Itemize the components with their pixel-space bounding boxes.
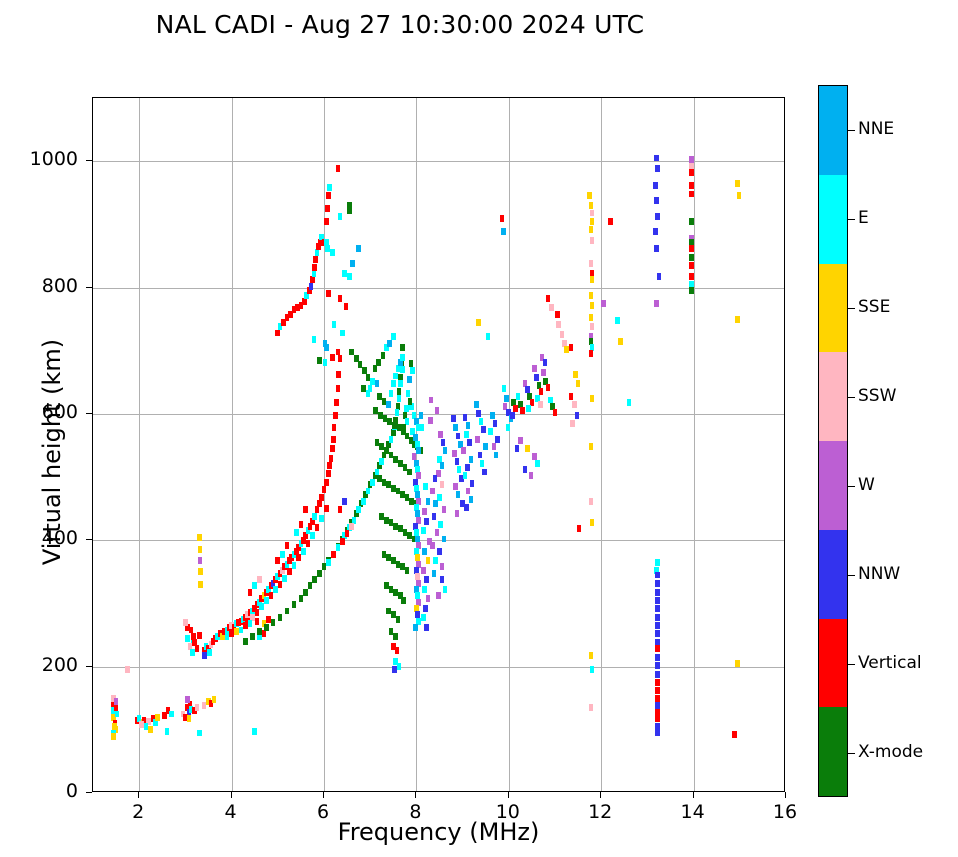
data-point <box>330 354 335 361</box>
data-point <box>516 393 521 400</box>
data-point <box>452 450 457 457</box>
data-point <box>162 712 167 719</box>
data-point <box>336 349 341 356</box>
data-point <box>248 589 253 596</box>
y-axis-tick <box>86 539 92 540</box>
data-point <box>435 407 440 414</box>
data-point <box>389 436 394 443</box>
ionogram-figure: NAL CADI - Aug 27 10:30:00 2024 UTC 2468… <box>0 0 958 857</box>
data-point <box>393 633 398 640</box>
data-point <box>396 616 401 623</box>
data-point <box>333 412 338 419</box>
data-point <box>655 614 660 621</box>
data-point <box>426 595 431 602</box>
data-point <box>269 592 274 599</box>
data-point <box>197 534 202 541</box>
data-point <box>501 228 506 235</box>
data-point <box>322 486 327 493</box>
data-point <box>443 586 448 593</box>
data-point <box>324 344 329 351</box>
data-point <box>198 568 203 575</box>
data-point <box>655 679 660 686</box>
data-point <box>455 458 460 465</box>
data-point <box>329 455 334 462</box>
data-point <box>737 192 742 199</box>
data-point <box>408 398 413 405</box>
data-point <box>347 207 352 214</box>
data-point <box>347 273 352 280</box>
data-point <box>315 524 320 531</box>
data-point <box>463 472 468 479</box>
data-point <box>464 431 469 438</box>
x-axis-tick <box>693 792 694 798</box>
data-point <box>689 254 694 261</box>
data-point <box>420 424 425 431</box>
data-point <box>259 603 264 610</box>
colorbar-band-nne <box>819 86 847 175</box>
data-point <box>373 365 378 372</box>
data-point <box>492 443 497 450</box>
data-point <box>421 527 426 534</box>
data-point <box>315 506 320 513</box>
data-point <box>653 182 658 189</box>
data-point <box>345 530 350 537</box>
data-point <box>590 323 595 330</box>
y-axis-tick <box>86 666 92 667</box>
data-point <box>407 376 412 383</box>
data-point <box>275 557 280 564</box>
data-point <box>306 540 311 547</box>
data-point <box>115 711 120 718</box>
data-point <box>419 412 424 419</box>
data-point <box>525 445 530 452</box>
data-point <box>587 192 592 199</box>
data-point <box>478 452 483 459</box>
data-point <box>319 515 324 522</box>
data-point <box>338 355 343 362</box>
data-point <box>396 365 401 372</box>
data-point <box>549 304 554 311</box>
colorbar-tick <box>848 753 855 754</box>
data-point <box>422 586 427 593</box>
data-point <box>313 256 318 263</box>
data-point <box>303 589 308 596</box>
data-point <box>257 628 262 635</box>
data-point <box>470 480 475 487</box>
data-point <box>655 580 660 587</box>
data-point <box>655 589 660 596</box>
data-point <box>430 488 435 495</box>
y-axis-tick <box>86 287 92 288</box>
data-point <box>653 228 658 235</box>
data-point <box>397 395 402 402</box>
data-point <box>589 292 594 299</box>
data-point <box>197 632 202 639</box>
data-point <box>331 551 336 558</box>
data-point <box>569 344 574 351</box>
data-points-layer <box>93 98 784 791</box>
data-point <box>538 401 543 408</box>
data-point <box>627 399 632 406</box>
data-point <box>655 730 660 737</box>
data-point <box>303 506 308 513</box>
data-point <box>424 624 429 631</box>
data-point <box>250 633 255 640</box>
colorbar-label-e: E <box>858 208 869 228</box>
data-point <box>144 723 149 730</box>
data-point <box>139 721 144 728</box>
data-point <box>483 443 488 450</box>
data-point <box>405 567 410 574</box>
data-point <box>366 374 371 381</box>
data-point <box>735 180 740 187</box>
data-point <box>381 352 386 359</box>
y-axis-tick <box>86 160 92 161</box>
data-point <box>342 498 347 505</box>
data-point <box>589 652 594 659</box>
data-point <box>438 431 443 438</box>
data-point <box>379 458 384 465</box>
data-point <box>657 273 662 280</box>
data-point <box>278 581 283 588</box>
data-point <box>589 443 594 450</box>
data-point <box>486 333 491 340</box>
data-point <box>543 359 548 366</box>
data-point <box>504 395 509 402</box>
data-point <box>255 618 260 625</box>
data-point <box>393 373 398 380</box>
data-point <box>481 426 486 433</box>
data-point <box>601 300 606 307</box>
data-point <box>252 582 257 589</box>
data-point <box>315 249 320 256</box>
data-point <box>195 704 200 711</box>
data-point <box>112 723 117 730</box>
data-point <box>556 321 561 328</box>
data-point <box>395 647 400 654</box>
data-point <box>532 365 537 372</box>
data-point <box>391 333 396 340</box>
data-point <box>546 295 551 302</box>
data-point <box>689 169 694 176</box>
data-point <box>589 314 594 321</box>
data-point <box>655 622 660 629</box>
data-point <box>573 371 578 378</box>
data-point <box>590 218 595 225</box>
data-point <box>428 417 433 424</box>
data-point <box>424 576 429 583</box>
data-point <box>292 601 297 608</box>
data-point <box>654 300 659 307</box>
data-point <box>332 321 337 328</box>
data-point <box>426 498 431 505</box>
data-point <box>440 481 445 488</box>
data-point <box>689 287 694 294</box>
colorbar-label-nnw: NNW <box>858 564 900 584</box>
data-point <box>590 302 595 309</box>
x-axis-tick <box>323 792 324 798</box>
data-point <box>421 567 426 574</box>
data-point <box>589 498 594 505</box>
data-point <box>469 496 474 503</box>
data-point <box>252 728 257 735</box>
data-point <box>475 436 480 443</box>
data-point <box>433 557 438 564</box>
colorbar-tick <box>848 575 855 576</box>
data-point <box>529 472 534 479</box>
data-point <box>436 592 441 599</box>
colorbar-band-sse <box>819 264 847 353</box>
data-point <box>326 290 331 297</box>
data-point <box>317 357 322 364</box>
x-axis-tick <box>785 792 786 798</box>
data-point <box>324 239 329 246</box>
data-point <box>654 245 659 252</box>
data-point <box>426 557 431 564</box>
data-point <box>534 374 539 381</box>
data-point <box>401 424 406 431</box>
data-point <box>197 730 202 737</box>
data-point <box>282 575 287 582</box>
data-point <box>330 445 335 452</box>
data-point <box>334 399 339 406</box>
data-point <box>506 424 511 431</box>
data-point <box>198 557 203 564</box>
data-point <box>424 518 429 525</box>
y-axis-tick-label: 1000 <box>8 148 78 170</box>
data-point <box>111 733 116 740</box>
colorbar-label-vertical: Vertical <box>858 653 922 673</box>
data-point <box>432 513 437 520</box>
data-point <box>465 464 470 471</box>
data-point <box>271 619 276 626</box>
data-point <box>169 711 174 718</box>
data-point <box>576 380 581 387</box>
data-point <box>433 475 438 482</box>
data-point <box>308 582 313 589</box>
data-point <box>575 412 580 419</box>
data-point <box>438 521 443 528</box>
x-axis-tick <box>508 792 509 798</box>
data-point <box>278 614 283 621</box>
data-point <box>309 283 314 290</box>
data-point <box>655 605 660 612</box>
data-point <box>589 704 594 711</box>
y-axis-tick-label: 0 <box>8 780 78 802</box>
colorbar <box>818 85 848 797</box>
data-point <box>338 295 343 302</box>
data-point <box>433 500 438 507</box>
data-point <box>502 385 507 392</box>
data-point <box>689 262 694 269</box>
data-point <box>553 409 558 416</box>
data-point <box>590 237 595 244</box>
data-point <box>490 412 495 419</box>
colorbar-tick <box>848 219 855 220</box>
data-point <box>319 494 324 501</box>
data-point <box>456 433 461 440</box>
colorbar-tick <box>848 130 855 131</box>
colorbar-band-x-mode <box>819 707 847 796</box>
data-point <box>413 624 418 631</box>
data-point <box>299 595 304 602</box>
x-axis-tick <box>138 792 139 798</box>
data-point <box>400 354 405 361</box>
data-point <box>392 666 397 673</box>
data-point <box>590 276 595 283</box>
data-point <box>248 620 253 627</box>
data-point <box>410 367 415 374</box>
data-point <box>570 420 575 427</box>
data-point <box>429 397 434 404</box>
data-point <box>440 563 445 570</box>
data-point <box>285 542 290 549</box>
colorbar-label-w: W <box>858 475 875 495</box>
data-point <box>296 554 301 561</box>
data-point <box>340 538 345 545</box>
data-point <box>577 525 582 532</box>
data-point <box>368 385 373 392</box>
data-point <box>375 380 380 387</box>
data-point <box>255 609 260 616</box>
data-point <box>312 264 317 271</box>
data-point <box>275 330 280 337</box>
data-point <box>332 424 337 431</box>
data-point <box>398 380 403 387</box>
data-point <box>493 420 498 427</box>
data-point <box>655 572 660 579</box>
data-point <box>212 696 217 703</box>
data-point <box>466 488 471 495</box>
data-point <box>406 390 411 397</box>
data-point <box>257 576 262 583</box>
data-point <box>495 436 500 443</box>
data-point <box>165 728 170 735</box>
data-point <box>183 619 188 626</box>
data-point <box>327 462 332 469</box>
data-point <box>435 529 440 536</box>
data-point <box>440 576 445 583</box>
data-point <box>301 548 306 555</box>
data-point <box>442 536 447 543</box>
data-point <box>689 182 694 189</box>
plot-area <box>92 97 785 792</box>
y-axis-tick <box>86 413 92 414</box>
data-point <box>344 303 349 310</box>
x-axis-tick <box>415 792 416 798</box>
data-point <box>287 568 292 575</box>
data-point <box>654 197 659 204</box>
data-point <box>198 546 203 553</box>
colorbar-label-ssw: SSW <box>858 386 896 406</box>
data-point <box>366 488 371 495</box>
data-point <box>324 218 329 225</box>
data-point <box>555 311 560 318</box>
data-point <box>317 500 322 507</box>
data-point <box>198 581 203 588</box>
data-point <box>114 698 119 705</box>
data-point <box>326 559 331 566</box>
colorbar-band-vertical <box>819 619 847 708</box>
data-point <box>376 359 381 366</box>
data-point <box>361 498 366 505</box>
data-point <box>407 469 412 476</box>
data-point <box>280 551 285 558</box>
data-point <box>440 462 445 469</box>
data-point <box>312 336 317 343</box>
data-point <box>325 205 330 212</box>
data-point <box>589 226 594 233</box>
data-point <box>155 714 160 721</box>
data-point <box>330 249 335 256</box>
data-point <box>264 624 269 631</box>
data-point <box>391 380 396 387</box>
data-point <box>386 401 391 408</box>
data-point <box>262 630 267 637</box>
data-point <box>310 276 315 283</box>
data-point <box>569 393 574 400</box>
y-axis-label: Virtual height (km) <box>38 172 66 732</box>
data-point <box>456 491 461 498</box>
data-point <box>655 715 660 722</box>
data-point <box>299 521 304 528</box>
data-point <box>409 360 414 367</box>
data-point <box>453 483 458 490</box>
x-axis-label: Frequency (MHz) <box>92 818 785 846</box>
data-point <box>520 407 525 414</box>
data-point <box>655 630 660 637</box>
data-point <box>370 479 375 486</box>
data-point <box>654 155 659 162</box>
data-point <box>589 350 594 357</box>
data-point <box>292 562 297 569</box>
data-point <box>461 447 466 454</box>
data-point <box>655 597 660 604</box>
data-point <box>466 422 471 429</box>
data-point <box>518 437 523 444</box>
data-point <box>655 695 660 702</box>
data-point <box>356 245 361 252</box>
data-point <box>689 273 694 280</box>
data-point <box>185 696 190 703</box>
data-point <box>732 731 737 738</box>
data-point <box>590 395 595 402</box>
data-point <box>225 633 230 640</box>
data-point <box>397 663 402 670</box>
data-point <box>317 570 322 577</box>
data-point <box>349 523 354 530</box>
data-point <box>336 165 341 172</box>
data-point <box>326 470 331 477</box>
data-point <box>615 317 620 324</box>
colorbar-band-nnw <box>819 530 847 619</box>
data-point <box>451 415 456 422</box>
data-point <box>589 202 594 209</box>
data-point <box>336 385 341 392</box>
data-point <box>510 412 515 419</box>
data-point <box>312 576 317 583</box>
data-point <box>294 529 299 536</box>
data-point <box>479 418 484 425</box>
data-point <box>336 371 341 378</box>
data-point <box>572 401 577 408</box>
data-point <box>541 369 546 376</box>
colorbar-band-e <box>819 175 847 264</box>
data-point <box>148 726 153 733</box>
data-point <box>655 165 660 172</box>
data-point <box>187 715 192 722</box>
data-point <box>395 409 400 416</box>
